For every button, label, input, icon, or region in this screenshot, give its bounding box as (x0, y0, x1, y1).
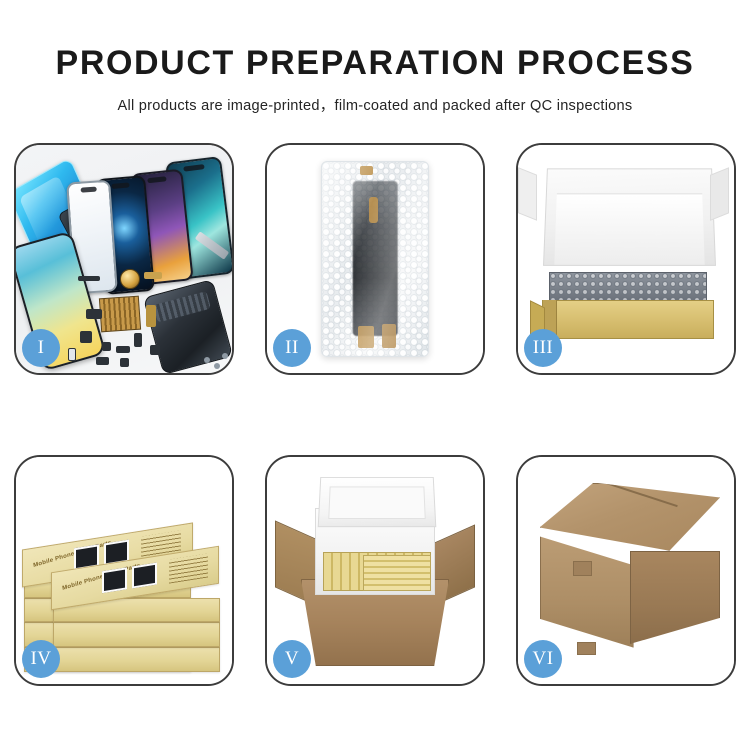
sealed-carton-graphic (532, 483, 720, 663)
screw-graphic (222, 353, 228, 359)
spare-part-graphic (134, 333, 142, 347)
box-lid-graphic (543, 168, 716, 266)
spare-part-graphic (116, 346, 130, 353)
step-badge-2: II (273, 329, 311, 367)
spare-part-graphic (120, 358, 129, 367)
spare-part-graphic (102, 342, 111, 351)
speaker-module-graphic (120, 269, 140, 289)
carton-side-face (630, 551, 720, 644)
notch-icon (111, 182, 130, 189)
process-step-panel-3: III (516, 143, 736, 375)
page-subtitle: All products are image-printed，film-coat… (0, 94, 750, 115)
plastic-sheen-overlay (322, 162, 428, 356)
retail-box-graphic (53, 647, 219, 672)
notch-icon (183, 164, 204, 171)
bubble-wrapped-items-graphic (549, 272, 706, 304)
process-step-panel-2: II (265, 143, 485, 375)
process-step-grid: I II (14, 143, 736, 686)
process-step-panel-6: VI (516, 455, 736, 687)
process-step-panel-4: Mobile Phone Spare Parts Mobile Phone Sp… (14, 455, 234, 687)
box-spec-text-graphic (169, 554, 209, 584)
step-badge-5: V (273, 640, 311, 678)
bubble-wrap-bag-graphic (321, 161, 429, 357)
header: PRODUCT PREPARATION PROCESS All products… (0, 0, 750, 115)
tape-patch-graphic (573, 561, 592, 575)
flex-cable-graphic (146, 305, 156, 327)
chip-grid-graphic (99, 295, 141, 332)
spare-part-graphic (96, 357, 109, 365)
spare-part-graphic (86, 309, 102, 319)
notch-icon (147, 176, 167, 183)
retail-box-graphic (53, 622, 219, 647)
process-step-panel-5: V (265, 455, 485, 687)
product-preparation-process-infographic: PRODUCT PREPARATION PROCESS All products… (0, 0, 750, 750)
carton-seam-line (578, 473, 677, 507)
phone-back-housing-graphic (143, 279, 232, 373)
spare-part-graphic (68, 348, 76, 361)
tape-patch-graphic (577, 642, 596, 655)
screw-graphic (214, 363, 220, 369)
packed-boxes-graphic (363, 555, 431, 591)
inner-box-graphic (530, 167, 722, 343)
screw-graphic (204, 357, 210, 363)
open-carton-graphic (275, 473, 475, 671)
step-badge-4: IV (22, 640, 60, 678)
step-badge-3: III (524, 329, 562, 367)
spare-part-graphic (80, 331, 92, 343)
box-lid-tab-left (518, 167, 537, 220)
box-window-graphic (102, 567, 127, 593)
carton-front-face (540, 536, 634, 647)
spare-part-graphic (78, 276, 100, 281)
spare-part-graphic (150, 345, 160, 355)
box-window-graphic (132, 563, 157, 589)
foam-lid-graphic (318, 477, 437, 528)
step-badge-1: I (22, 329, 60, 367)
carton-top-face (540, 483, 720, 551)
box-front-panel-graphic (542, 300, 715, 339)
spare-part-graphic (144, 272, 162, 279)
page-title: PRODUCT PREPARATION PROCESS (0, 44, 750, 83)
box-lid-tab-right (710, 167, 729, 220)
step-badge-6: VI (524, 640, 562, 678)
notch-icon (81, 187, 97, 193)
process-step-panel-1: I (14, 143, 234, 375)
